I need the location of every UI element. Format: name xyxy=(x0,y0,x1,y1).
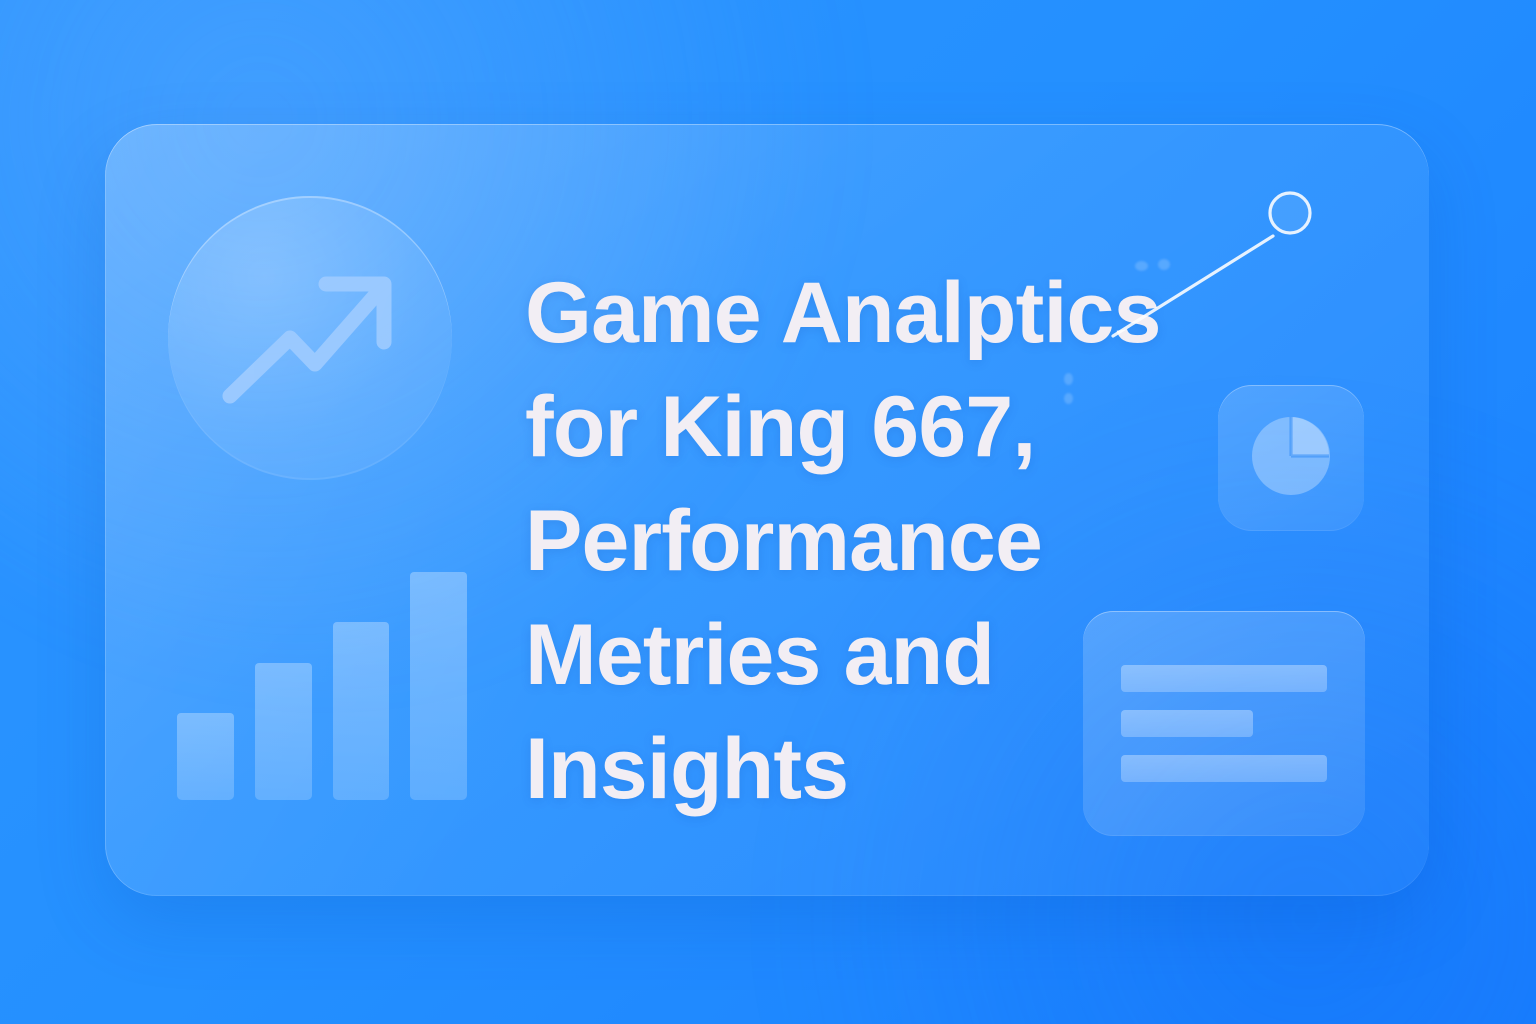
title-line-2: for King 667, xyxy=(525,379,1035,475)
pie-chart-icon xyxy=(1245,410,1337,507)
bar-chart-decoration xyxy=(177,572,467,800)
glass-panel: Game Analptics for King 667, Performance… xyxy=(105,124,1429,896)
title-line-1: Game Analptics xyxy=(525,265,1161,361)
title-line-5: Insights xyxy=(525,721,848,817)
text-artifact-1 xyxy=(1135,261,1148,271)
list-line-3 xyxy=(1121,755,1327,782)
title-line-3: Performance xyxy=(525,493,1042,589)
bar-4 xyxy=(410,572,467,800)
pie-chart-card xyxy=(1218,385,1364,531)
trending-up-icon-badge xyxy=(168,196,452,480)
trending-up-icon xyxy=(220,268,400,408)
bar-3 xyxy=(333,622,390,800)
text-artifact-3 xyxy=(1064,373,1073,385)
text-artifact-4 xyxy=(1064,393,1073,404)
hero-banner: Game Analptics for King 667, Performance… xyxy=(0,0,1536,1024)
bar-2 xyxy=(255,663,312,800)
text-artifact-2 xyxy=(1158,259,1170,270)
bar-1 xyxy=(177,713,234,800)
title-line-4: Metries and xyxy=(525,607,994,703)
list-card xyxy=(1083,611,1365,836)
list-line-2 xyxy=(1121,710,1253,737)
list-line-1 xyxy=(1121,665,1327,692)
